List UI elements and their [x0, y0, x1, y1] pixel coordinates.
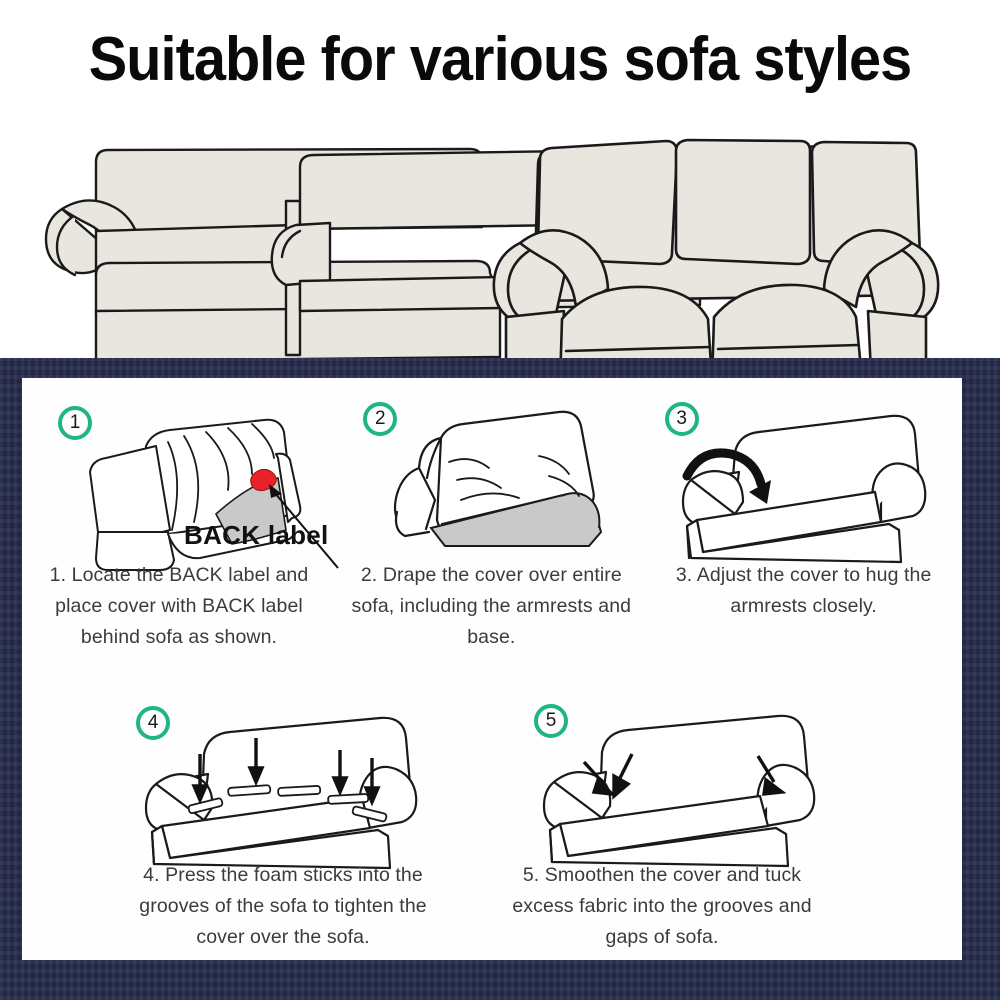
step-2-illustration [353, 404, 633, 564]
step-1-caption: 1. Locate the BACK label and place cover… [48, 560, 310, 653]
hero-sofa-illustration [0, 105, 1000, 355]
step-2-caption: 2. Drape the cover over entire sofa, inc… [341, 560, 641, 653]
step-5: 5 [492, 690, 872, 960]
step-3-illustration [657, 406, 947, 566]
step-4: 4 [112, 690, 492, 960]
back-label-callout: BACK label [184, 520, 329, 551]
step-4-illustration [122, 710, 442, 870]
step-1: 1 [22, 378, 335, 678]
step-4-caption: 4. Press the foam sticks into the groove… [118, 860, 448, 953]
steps-row-bottom: 4 [112, 690, 872, 960]
step-2: 2 [335, 378, 648, 678]
steps-row-top: 1 [22, 378, 962, 678]
hero-section: Suitable for various sofa styles [0, 0, 1000, 358]
step-5-caption: 5. Smoothen the cover and tuck excess fa… [492, 860, 832, 953]
step-1-illustration [50, 410, 340, 580]
step-3: 3 [649, 378, 962, 678]
step-5-illustration [520, 708, 840, 868]
page-root: Suitable for various sofa styles [0, 0, 1000, 1000]
step-3-caption: 3. Adjust the cover to hug the armrests … [659, 560, 949, 622]
page-title: Suitable for various sofa styles [35, 24, 965, 95]
